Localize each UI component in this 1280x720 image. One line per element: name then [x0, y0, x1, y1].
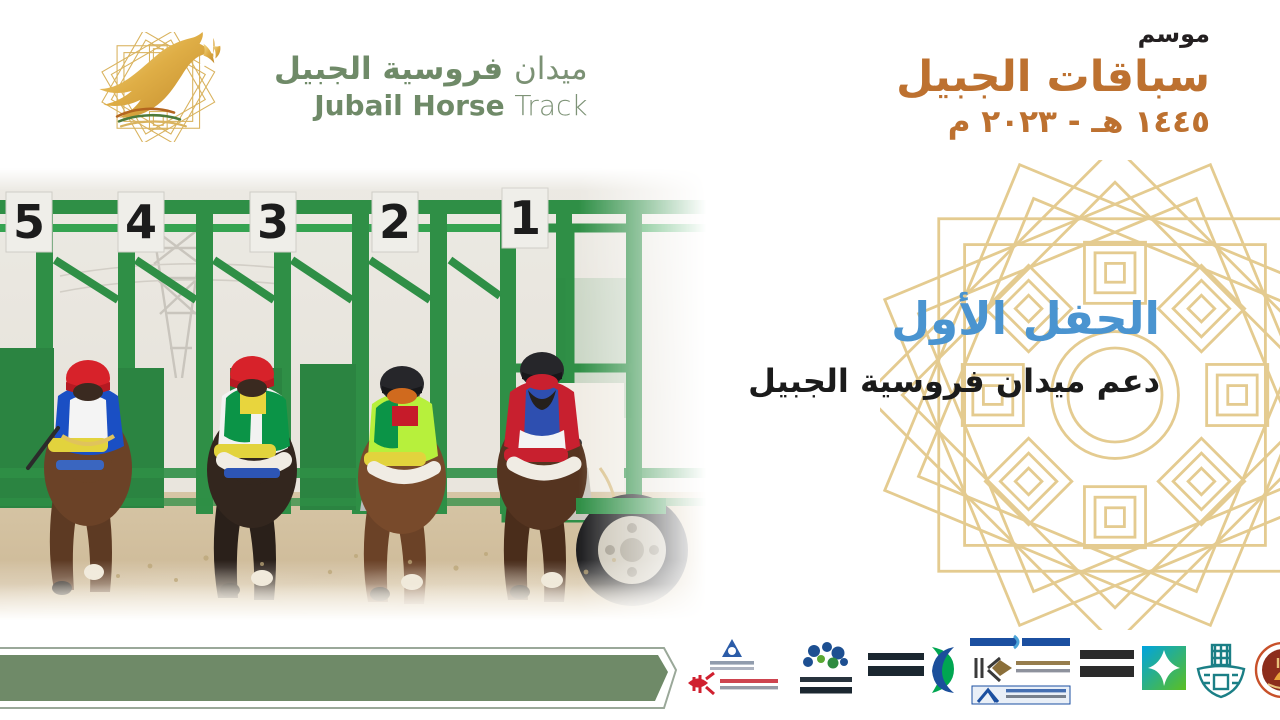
event-headline-main: الحفل الأول: [748, 296, 1160, 341]
tasnee-logo: [970, 636, 1070, 648]
khatrain-international-logo: [688, 673, 778, 694]
brand-name-arabic: ميدان فروسية الجبيل: [274, 54, 588, 85]
sponsor-logo-royal-commission: [1192, 630, 1250, 710]
green-banner-bar: [0, 644, 680, 712]
brand-wordmark: ميدان فروسية الجبيل Jubail Horse Track: [274, 54, 588, 120]
horse-head-ornament-logo-icon: [96, 32, 256, 142]
brand-name-english-thin: Track: [514, 89, 587, 122]
svg-text:1: 1: [509, 191, 541, 245]
sponsor-logo-satorp: [866, 630, 962, 710]
svg-text:4: 4: [125, 195, 157, 249]
season-years: ١٤٤٥ هـ - ٢٠٢٣ م: [896, 107, 1210, 138]
sponsor-logo-group-najm-khatrain: [680, 630, 784, 710]
brand-name-arabic-bold: فروسية الجبيل: [274, 51, 503, 87]
sponsor-logos-strip: [676, 628, 1280, 712]
svg-text:5: 5: [13, 195, 45, 249]
svg-text:2: 2: [379, 195, 411, 249]
brand-logo-block: ميدان فروسية الجبيل Jubail Horse Track: [96, 32, 588, 142]
sponsor-logo-advanced: [788, 630, 862, 710]
season-title: سباقات الجبيل: [896, 56, 1210, 99]
event-headline-sub: دعم ميدان فروسية الجبيل: [748, 365, 1160, 397]
brand-name-english-bold: Jubail Horse: [314, 89, 504, 122]
poster-canvas: ميدان فروسية الجبيل Jubail Horse Track م…: [0, 0, 1280, 720]
svg-text:3: 3: [257, 195, 289, 249]
abdulla-al-nahdi-logo: [972, 686, 1070, 704]
sponsor-logo-ministry-of-energy: [1254, 630, 1280, 710]
season-kicker: موسم: [896, 22, 1210, 46]
al-khater-group-logo: [976, 658, 1070, 681]
race-start-photo: 5 4 3 2 1: [0, 168, 706, 620]
event-headline-block: الحفل الأول دعم ميدان فروسية الجبيل: [748, 296, 1160, 397]
brand-name-english: Jubail Horse Track: [314, 92, 587, 120]
season-title-block: موسم سباقات الجبيل ١٤٤٥ هـ - ٢٠٢٣ م: [896, 22, 1210, 138]
sponsor-logo-group-tasnee-khater-nahdi: [966, 630, 1074, 710]
sponsor-logo-aramco: [1078, 630, 1188, 710]
brand-name-arabic-light: ميدان: [514, 51, 588, 87]
najm-aldunia-logo: [710, 639, 754, 670]
